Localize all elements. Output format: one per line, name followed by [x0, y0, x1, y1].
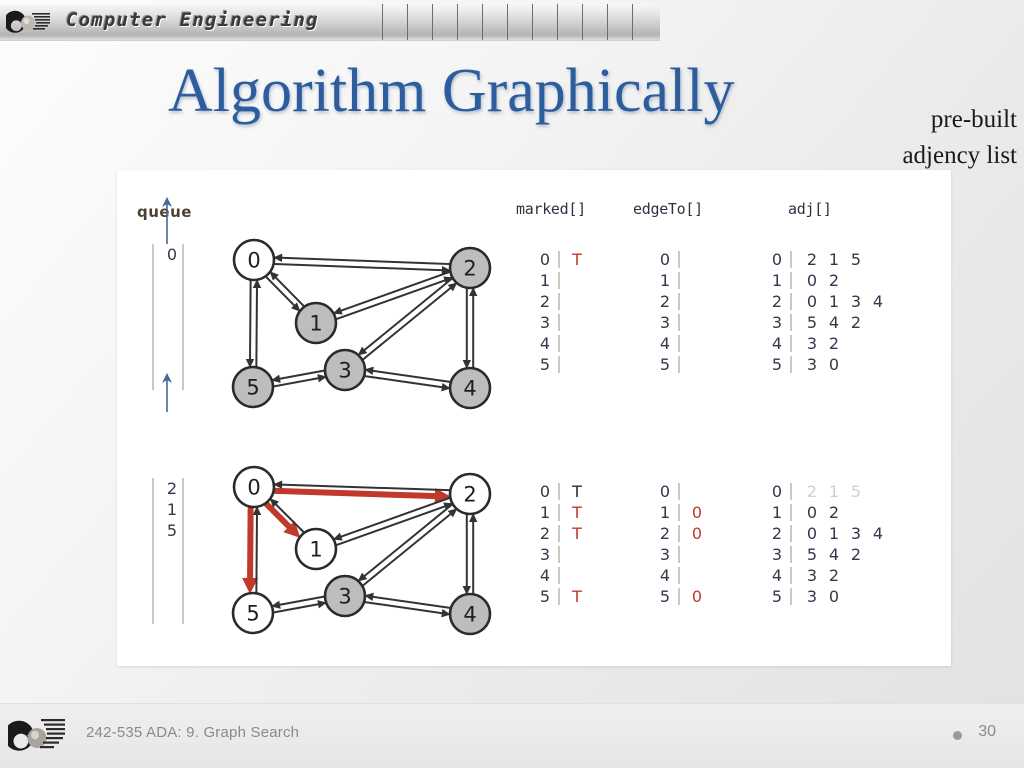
column-divider: [790, 546, 792, 563]
row-index: 3: [538, 312, 552, 333]
column-divider: [678, 272, 680, 289]
queue-item: 2: [164, 478, 180, 499]
queue-item: 0: [164, 244, 180, 265]
row-index: 5: [658, 354, 672, 375]
row-index: 4: [538, 333, 552, 354]
column-divider: [558, 272, 560, 289]
row-index: 0: [770, 481, 784, 502]
svg-text:4: 4: [463, 377, 476, 401]
row-index: 5: [658, 586, 672, 607]
queue-item: 5: [164, 520, 180, 541]
cell-value: 0: [689, 523, 705, 544]
adjacency-entry: 0: [823, 586, 845, 607]
table-row: 2: [658, 291, 705, 312]
queue-rail-left: [152, 478, 154, 624]
adjacency-entry: 2: [845, 312, 867, 333]
table-row: 20134: [770, 291, 889, 312]
column-divider: [678, 525, 680, 542]
table-row: 3542: [770, 312, 889, 333]
adjacency-array-step-2: 0215102201343542432530: [770, 481, 889, 607]
queue-pointer-arrow-icon: [160, 196, 174, 244]
column-divider: [790, 504, 792, 521]
column-header-marked: marked[]: [516, 200, 586, 218]
column-divider: [558, 293, 560, 310]
table-row: 4: [658, 565, 705, 586]
adjacency-entry: 2: [845, 544, 867, 565]
row-index: 3: [658, 312, 672, 333]
table-row: 1: [658, 270, 705, 291]
column-divider: [790, 314, 792, 331]
adjacency-entry: 3: [801, 354, 823, 375]
svg-text:1: 1: [309, 312, 322, 336]
table-row: 2: [538, 291, 585, 312]
column-divider: [558, 546, 560, 563]
row-index: 0: [658, 481, 672, 502]
edgeto-array-step-1: 012345: [658, 249, 705, 375]
row-index: 0: [538, 249, 552, 270]
table-row: 432: [770, 333, 889, 354]
table-row: 50: [658, 586, 705, 607]
adjacency-entry: 3: [845, 291, 867, 312]
footer-bar: 242-535 ADA: 9. Graph Search 30: [0, 703, 1024, 768]
cell-value: T: [569, 502, 585, 523]
adjacency-entry: 2: [823, 565, 845, 586]
queue-items: 0: [164, 244, 180, 265]
row-index: 4: [658, 333, 672, 354]
cell-value: T: [569, 481, 585, 502]
row-index: 4: [538, 565, 552, 586]
table-row: 102: [770, 270, 889, 291]
column-divider: [558, 314, 560, 331]
cell-value: T: [569, 523, 585, 544]
adjacency-entry: 3: [801, 565, 823, 586]
cell-value: T: [569, 586, 585, 607]
adjacency-entry: 2: [801, 249, 823, 270]
ce-swoosh-logo-icon: [8, 710, 70, 762]
column-divider: [558, 525, 560, 542]
marked-array-step-2: 0T1T2T345T: [538, 481, 585, 607]
queue-items: 215: [164, 478, 180, 541]
table-row: 0T: [538, 481, 585, 502]
table-row: 0215: [770, 481, 889, 502]
column-divider: [790, 251, 792, 268]
column-divider: [678, 314, 680, 331]
row-index: 1: [538, 270, 552, 291]
table-row: 5: [658, 354, 705, 375]
row-index: 1: [770, 270, 784, 291]
row-index: 3: [658, 544, 672, 565]
row-index: 3: [770, 312, 784, 333]
column-divider: [790, 272, 792, 289]
table-row: 0215: [770, 249, 889, 270]
table-row: 3542: [770, 544, 889, 565]
row-index: 0: [658, 249, 672, 270]
adjacency-entry: 4: [867, 291, 889, 312]
table-row: 1T: [538, 502, 585, 523]
row-index: 0: [538, 481, 552, 502]
cell-value: 0: [689, 502, 705, 523]
adjacency-entry: 1: [823, 481, 845, 502]
graph-diagram: 012345: [224, 230, 496, 412]
table-row: 432: [770, 565, 889, 586]
adjacency-entry: 5: [801, 312, 823, 333]
column-divider: [678, 546, 680, 563]
column-divider: [790, 356, 792, 373]
adjacency-entry: 3: [845, 523, 867, 544]
svg-text:3: 3: [338, 359, 351, 383]
table-row: 20134: [770, 523, 889, 544]
column-divider: [558, 567, 560, 584]
graph-diagram: 012345: [224, 457, 496, 639]
column-divider: [558, 504, 560, 521]
column-divider: [558, 483, 560, 500]
table-row: 3: [538, 312, 585, 333]
adjacency-entry: 0: [823, 354, 845, 375]
bullet-dot-icon: [953, 731, 962, 740]
queue-rail-right: [182, 478, 184, 624]
svg-text:2: 2: [463, 483, 476, 507]
row-index: 0: [770, 249, 784, 270]
table-row: 1: [538, 270, 585, 291]
row-index: 1: [770, 502, 784, 523]
table-row: 530: [770, 586, 889, 607]
adjacency-entry: 5: [845, 481, 867, 502]
column-divider: [790, 335, 792, 352]
row-index: 2: [658, 523, 672, 544]
footer-course-label: 242-535 ADA: 9. Graph Search: [86, 724, 299, 741]
column-divider: [790, 483, 792, 500]
adjacency-entry: 1: [823, 291, 845, 312]
cell-value: T: [569, 249, 585, 270]
table-row: 10: [658, 502, 705, 523]
row-index: 1: [538, 502, 552, 523]
svg-text:3: 3: [338, 585, 351, 609]
adjacency-entry: 4: [823, 544, 845, 565]
column-divider: [790, 293, 792, 310]
row-index: 5: [538, 586, 552, 607]
table-row: 20: [658, 523, 705, 544]
column-header-adj: adj[]: [788, 200, 832, 218]
svg-text:5: 5: [246, 376, 259, 400]
svg-text:0: 0: [247, 476, 260, 500]
table-row: 4: [658, 333, 705, 354]
column-divider: [678, 335, 680, 352]
table-row: 3: [658, 312, 705, 333]
column-divider: [678, 567, 680, 584]
row-index: 4: [658, 565, 672, 586]
diagram-stage: marked[]edgeTo[]adj[]queue00123450T12345…: [0, 0, 1024, 768]
table-row: 4: [538, 565, 585, 586]
adjacency-entry: 4: [867, 523, 889, 544]
column-divider: [558, 588, 560, 605]
adjacency-entry: 0: [801, 291, 823, 312]
table-row: 3: [658, 544, 705, 565]
svg-text:2: 2: [463, 257, 476, 281]
cell-value: 0: [689, 586, 705, 607]
adjacency-entry: 1: [823, 523, 845, 544]
adjacency-entry: 3: [801, 333, 823, 354]
column-divider: [678, 483, 680, 500]
table-row: 0: [658, 481, 705, 502]
column-header-edgeto: edgeTo[]: [633, 200, 703, 218]
row-index: 2: [658, 291, 672, 312]
row-index: 3: [770, 544, 784, 565]
adjacency-entry: 0: [801, 502, 823, 523]
adjacency-entry: 3: [801, 586, 823, 607]
queue-pointer-arrow-icon: [160, 372, 174, 412]
column-divider: [678, 504, 680, 521]
column-divider: [678, 356, 680, 373]
column-divider: [558, 335, 560, 352]
column-divider: [678, 293, 680, 310]
table-row: 102: [770, 502, 889, 523]
column-divider: [678, 588, 680, 605]
row-index: 5: [538, 354, 552, 375]
queue-rail-right: [182, 244, 184, 390]
adjacency-entry: 5: [801, 544, 823, 565]
queue-rail-left: [152, 244, 154, 390]
queue-item: 1: [164, 499, 180, 520]
table-row: 5: [538, 354, 585, 375]
adjacency-entry: 0: [801, 523, 823, 544]
table-row: 3: [538, 544, 585, 565]
table-row: 2T: [538, 523, 585, 544]
row-index: 2: [770, 523, 784, 544]
adjacency-array-step-1: 0215102201343542432530: [770, 249, 889, 375]
queue-container: 215: [152, 478, 188, 624]
row-index: 1: [658, 270, 672, 291]
adjacency-entry: 2: [823, 502, 845, 523]
row-index: 1: [658, 502, 672, 523]
row-index: 2: [538, 523, 552, 544]
adjacency-entry: 4: [823, 312, 845, 333]
adjacency-entry: 2: [801, 481, 823, 502]
svg-text:1: 1: [309, 538, 322, 562]
row-index: 4: [770, 333, 784, 354]
svg-text:5: 5: [246, 602, 259, 626]
table-row: 4: [538, 333, 585, 354]
column-divider: [790, 567, 792, 584]
adjacency-entry: 5: [845, 249, 867, 270]
row-index: 5: [770, 354, 784, 375]
adjacency-entry: 1: [823, 249, 845, 270]
table-row: 530: [770, 354, 889, 375]
svg-text:4: 4: [463, 603, 476, 627]
column-divider: [678, 251, 680, 268]
table-row: 0: [658, 249, 705, 270]
adjacency-entry: 0: [801, 270, 823, 291]
svg-text:0: 0: [247, 249, 260, 273]
row-index: 2: [538, 291, 552, 312]
marked-array-step-1: 0T12345: [538, 249, 585, 375]
column-divider: [558, 356, 560, 373]
column-divider: [790, 588, 792, 605]
row-index: 4: [770, 565, 784, 586]
column-divider: [558, 251, 560, 268]
row-index: 3: [538, 544, 552, 565]
table-row: 5T: [538, 586, 585, 607]
edgeto-array-step-2: 010203450: [658, 481, 705, 607]
page-number: 30: [978, 723, 996, 741]
queue-container: 0: [152, 244, 188, 390]
row-index: 2: [770, 291, 784, 312]
column-divider: [790, 525, 792, 542]
row-index: 5: [770, 586, 784, 607]
table-row: 0T: [538, 249, 585, 270]
adjacency-entry: 2: [823, 270, 845, 291]
adjacency-entry: 2: [823, 333, 845, 354]
